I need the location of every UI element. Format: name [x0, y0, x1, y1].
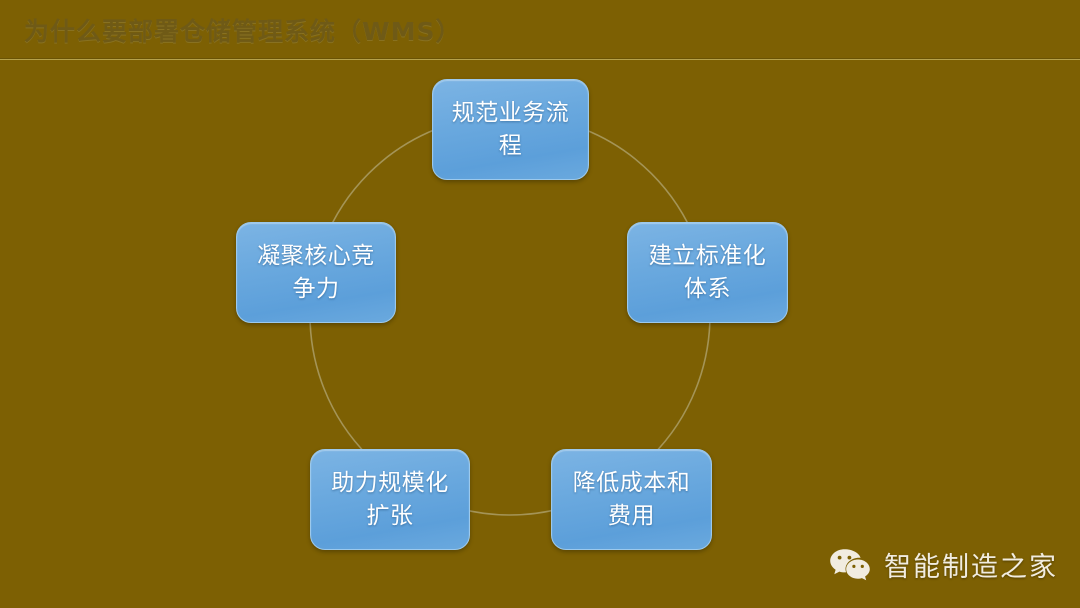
- slide-canvas: 为什么要部署仓储管理系统（WMS） 规范业务流程 建立标准化体系 降低成本和费用…: [0, 0, 1080, 608]
- watermark: 智能制造之家: [829, 545, 1058, 584]
- cycle-node-regulate-process[interactable]: 规范业务流程: [432, 79, 589, 180]
- cycle-node-reduce-cost[interactable]: 降低成本和费用: [551, 449, 712, 550]
- title-bar: 为什么要部署仓储管理系统（WMS）: [0, 0, 1080, 58]
- page-title: 为什么要部署仓储管理系统（WMS）: [24, 12, 461, 48]
- watermark-label: 智能制造之家: [884, 545, 1058, 584]
- cycle-node-standardize-system[interactable]: 建立标准化体系: [627, 222, 788, 323]
- cycle-node-scale-expansion[interactable]: 助力规模化扩张: [310, 449, 470, 550]
- cycle-node-core-competitiveness[interactable]: 凝聚核心竞争力: [236, 222, 396, 323]
- cycle-diagram: 规范业务流程 建立标准化体系 降低成本和费用 助力规模化扩张 凝聚核心竞争力: [0, 58, 1080, 608]
- cycle-node-label: 助力规模化扩张: [311, 467, 469, 532]
- cycle-node-label: 降低成本和费用: [552, 467, 711, 532]
- wechat-icon: [829, 548, 871, 582]
- cycle-node-label: 凝聚核心竞争力: [237, 240, 395, 305]
- cycle-node-label: 建立标准化体系: [628, 240, 787, 305]
- cycle-node-label: 规范业务流程: [433, 97, 588, 162]
